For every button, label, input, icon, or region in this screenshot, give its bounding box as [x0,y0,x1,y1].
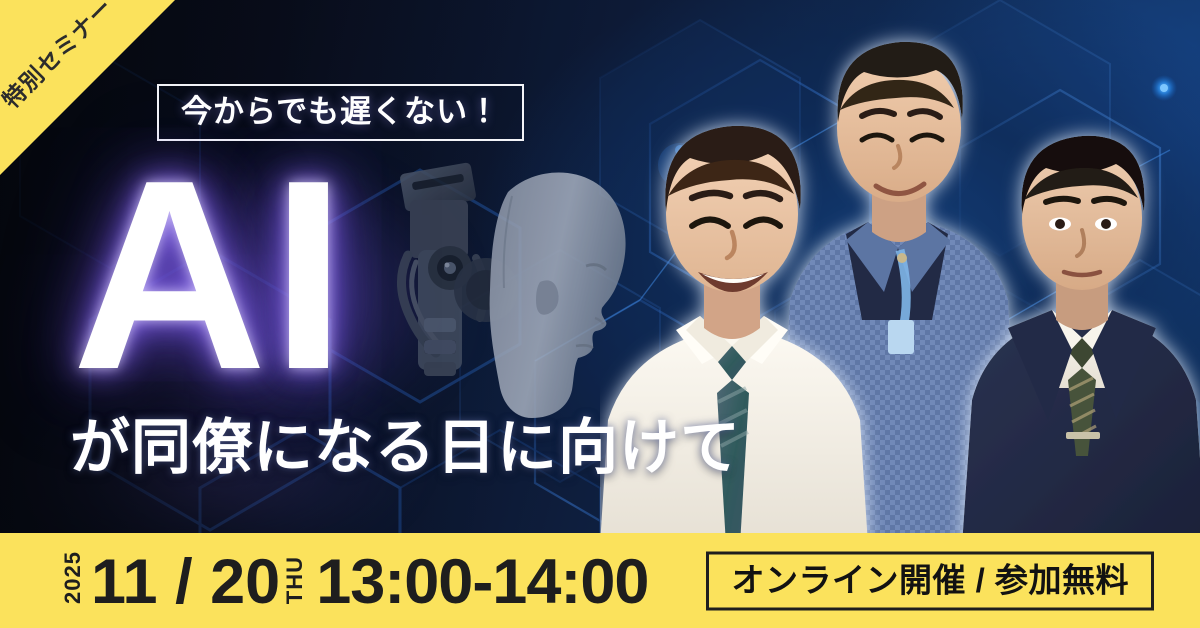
schedule-time: 13:00-14:00 [316,551,648,614]
headline-subtitle: が同僚になる日に向けて [70,414,741,481]
corner-ribbon: 特別セミナー [0,0,175,175]
headline-ai: AI [72,160,350,392]
schedule-day-of-week: THU [284,556,306,604]
schedule-bar: 2025 11 / 20 THU 13:00-14:00 オンライン開催 / 参… [0,533,1200,628]
attendance-note-box: オンライン開催 / 参加無料 [706,551,1154,610]
catchphrase-text: 今からでも遅くない！ [181,96,500,127]
attendance-note-text: オンライン開催 / 参加無料 [731,563,1129,596]
schedule-date: 11 / 20 [91,551,280,614]
seminar-banner: 今からでも遅くない！ AI が同僚になる日に向けて 2025 11 / 20 T… [0,0,1200,628]
schedule-year: 2025 [62,551,84,604]
date-group: 2025 11 / 20 THU 13:00-14:00 [62,551,648,610]
